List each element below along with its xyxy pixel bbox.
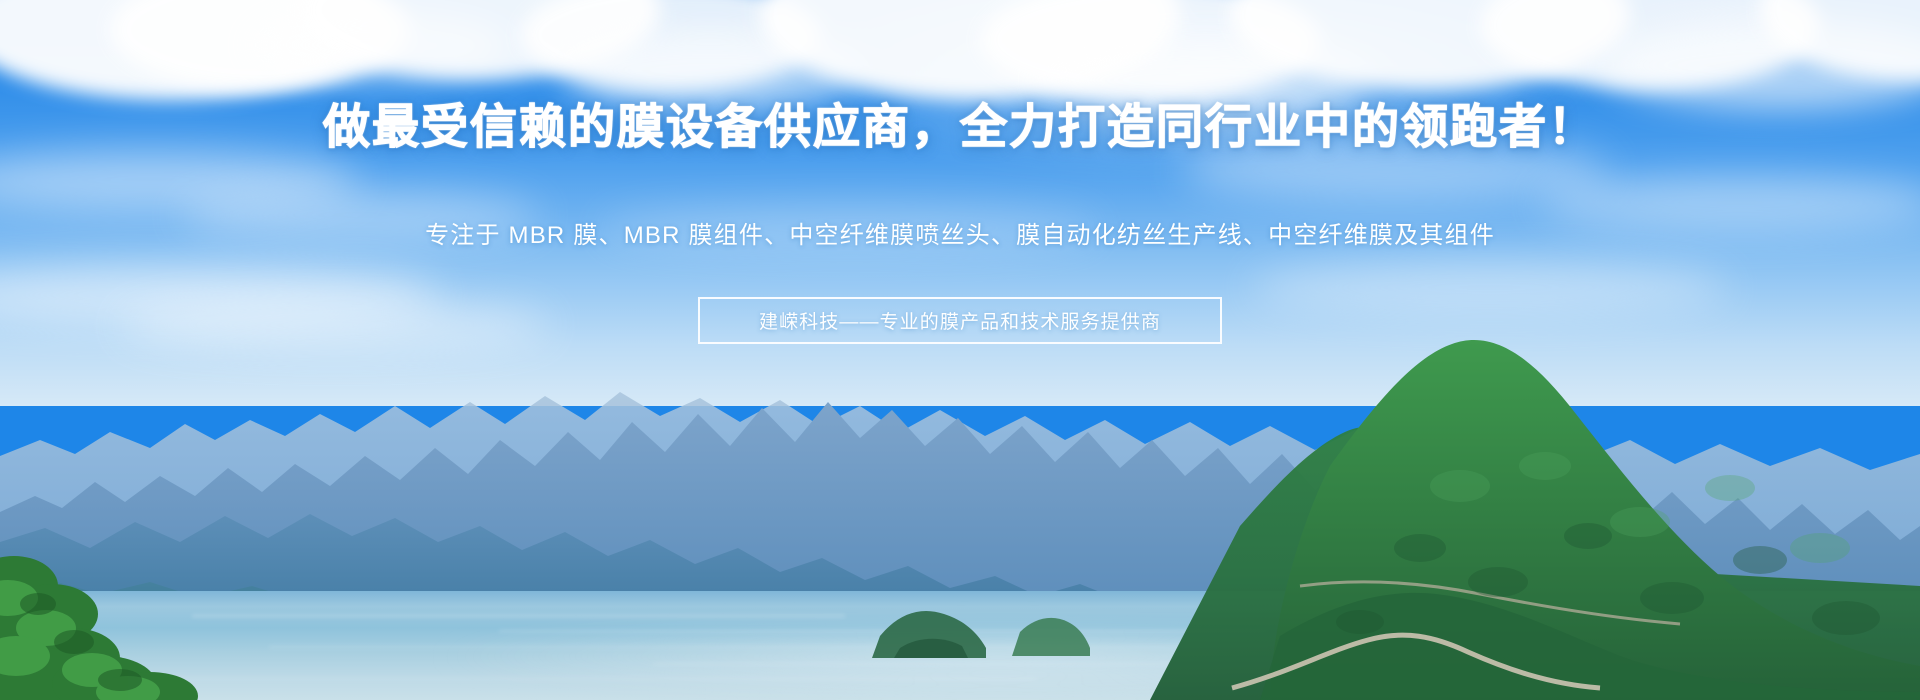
tagline-badge: 建嵘科技——专业的膜产品和技术服务提供商: [698, 297, 1222, 344]
tagline-container: 建嵘科技——专业的膜产品和技术服务提供商: [0, 297, 1920, 344]
banner-subtitle: 专注于 MBR 膜、MBR 膜组件、中空纤维膜喷丝头、膜自动化纺丝生产线、中空纤…: [0, 219, 1920, 253]
page-title: 做最受信赖的膜设备供应商，全力打造同行业中的领跑者！: [0, 100, 1920, 155]
banner-content: 做最受信赖的膜设备供应商，全力打造同行业中的领跑者！ 专注于 MBR 膜、MBR…: [0, 0, 1920, 344]
hero-banner: 做最受信赖的膜设备供应商，全力打造同行业中的领跑者！ 专注于 MBR 膜、MBR…: [0, 0, 1920, 700]
foreground-foliage: [0, 336, 1920, 700]
landscape: [0, 336, 1920, 700]
